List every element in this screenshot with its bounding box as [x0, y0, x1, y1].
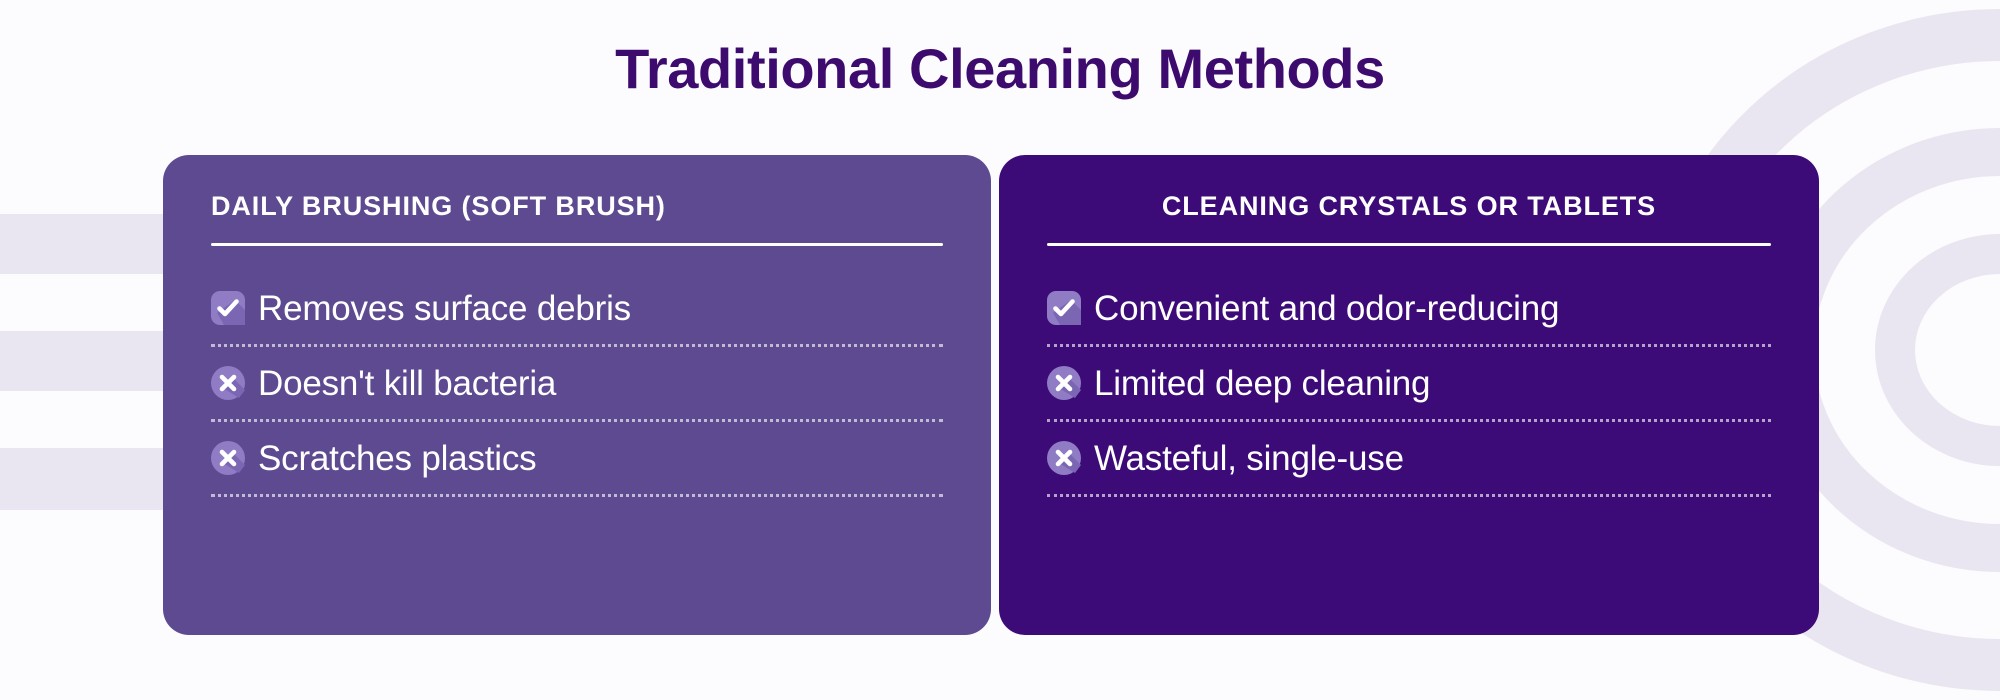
list-item: Scratches plastics — [211, 422, 943, 497]
list-item-label: Scratches plastics — [258, 441, 536, 476]
list-item-label: Removes surface debris — [258, 291, 631, 326]
card-cleaning-crystals-or-tablets: CLEANING CRYSTALS OR TABLETS Convenient … — [999, 155, 1819, 635]
card-header-title: CLEANING CRYSTALS OR TABLETS — [1047, 191, 1771, 222]
list-item: Removes surface debris — [211, 272, 943, 347]
card-header-title: DAILY BRUSHING (SOFT BRUSH) — [211, 191, 943, 222]
x-icon — [1047, 366, 1081, 400]
list-item: Wasteful, single-use — [1047, 422, 1771, 497]
check-icon — [1047, 291, 1081, 325]
header-divider — [1047, 243, 1771, 246]
feature-list: Removes surface debris Doesn't kill bact… — [211, 272, 943, 497]
check-icon — [211, 291, 245, 325]
list-item: Convenient and odor-reducing — [1047, 272, 1771, 347]
list-item-label: Doesn't kill bacteria — [258, 366, 556, 401]
list-item: Doesn't kill bacteria — [211, 347, 943, 422]
x-icon — [211, 441, 245, 475]
list-item-label: Convenient and odor-reducing — [1094, 291, 1559, 326]
x-icon — [211, 366, 245, 400]
list-item-label: Limited deep cleaning — [1094, 366, 1430, 401]
card-daily-brushing: DAILY BRUSHING (SOFT BRUSH) Removes surf… — [163, 155, 991, 635]
header-divider — [211, 243, 943, 246]
feature-list: Convenient and odor-reducing Limited dee… — [1047, 272, 1771, 497]
x-icon — [1047, 441, 1081, 475]
page-title: Traditional Cleaning Methods — [0, 36, 2000, 101]
list-item-label: Wasteful, single-use — [1094, 441, 1404, 476]
comparison-cards: DAILY BRUSHING (SOFT BRUSH) Removes surf… — [163, 155, 1819, 635]
list-item: Limited deep cleaning — [1047, 347, 1771, 422]
